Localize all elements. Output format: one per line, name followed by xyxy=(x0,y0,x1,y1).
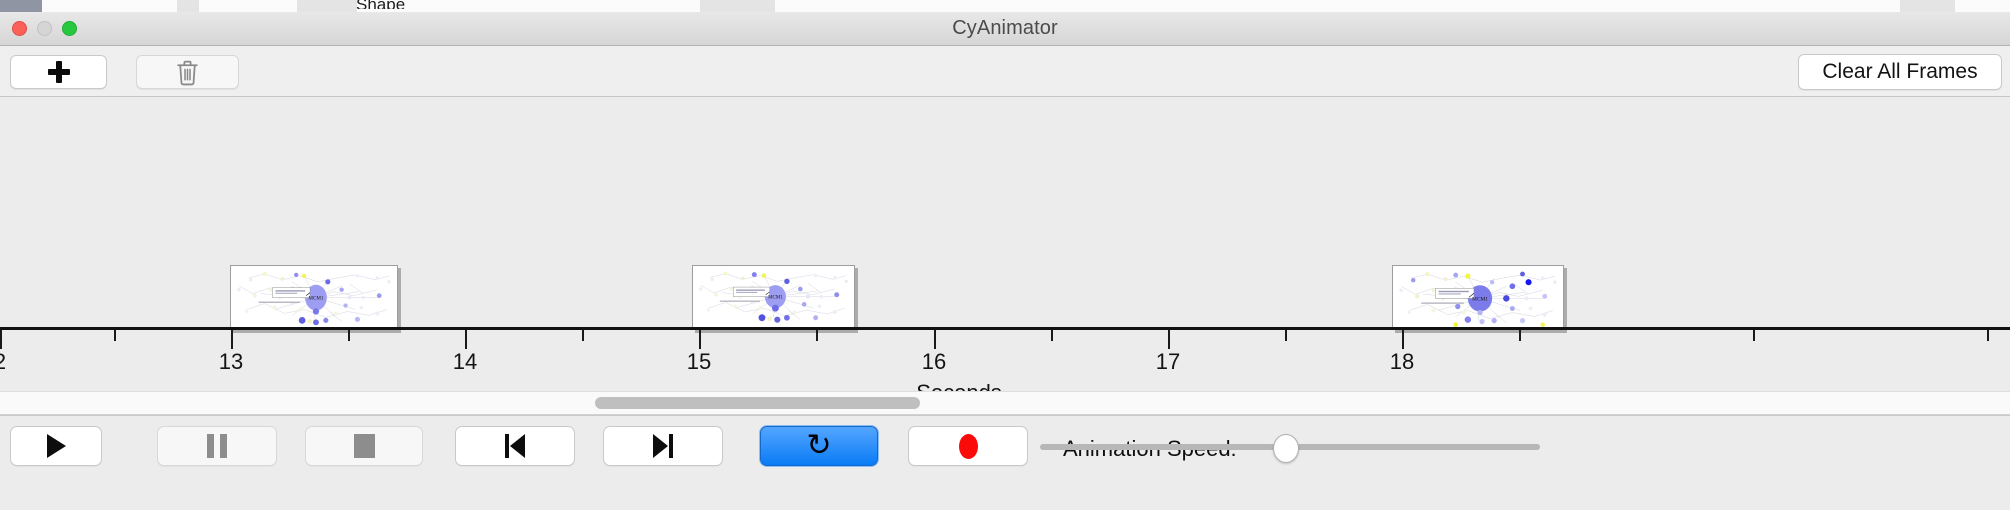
stop-icon xyxy=(354,434,375,458)
window-title: CyAnimator xyxy=(0,12,2010,45)
axis-tick-minor xyxy=(1987,330,1989,341)
axis-tick-minor xyxy=(1051,330,1053,341)
axis-tick-label: 13 xyxy=(219,349,243,375)
axis-tick-major xyxy=(1402,330,1404,349)
trash-icon xyxy=(175,59,200,86)
timeline-frame[interactable]: MCM1 xyxy=(230,265,398,330)
frame-node-label: MCM1 xyxy=(768,296,783,301)
axis-tick-label: 18 xyxy=(1390,349,1414,375)
add-frame-button[interactable] xyxy=(10,55,107,89)
timeline-panel[interactable]: MCM1 xyxy=(0,97,2010,415)
axis-tick-minor xyxy=(582,330,584,341)
playback-controls: ↻ Animation Speed: xyxy=(0,415,2010,478)
skip-previous-icon xyxy=(502,433,528,459)
frame-node-label: MCM1 xyxy=(308,296,324,302)
axis-tick-label: 2 xyxy=(0,349,6,375)
window-titlebar: CyAnimator xyxy=(0,12,2010,46)
axis-tick-major xyxy=(934,330,936,349)
play-button[interactable] xyxy=(10,426,102,466)
pause-button[interactable] xyxy=(157,426,277,466)
play-icon xyxy=(47,434,66,458)
axis-tick-minor xyxy=(816,330,818,341)
scrollbar-thumb[interactable] xyxy=(595,397,920,409)
axis-tick-major xyxy=(1168,330,1170,349)
background-fragment-label: Shape xyxy=(356,0,405,9)
axis-tick-label: 15 xyxy=(687,349,711,375)
timeline-frame[interactable]: MCM1 xyxy=(692,265,855,330)
axis-tick-minor xyxy=(1519,330,1521,341)
timeline-frame[interactable]: MCM1 xyxy=(1392,265,1564,330)
record-icon xyxy=(959,434,978,459)
axis-tick-minor xyxy=(1285,330,1287,341)
loop-icon: ↻ xyxy=(806,432,831,460)
plus-icon xyxy=(48,61,70,83)
clear-all-frames-button[interactable]: Clear All Frames xyxy=(1798,54,2002,90)
stop-button[interactable] xyxy=(305,426,423,466)
axis-tick-major xyxy=(465,330,467,349)
network-thumbnail: MCM1 xyxy=(693,266,854,328)
axis-tick-minor xyxy=(114,330,116,341)
animation-speed-thumb[interactable] xyxy=(1273,434,1299,463)
cyanimator-window: CyAnimator Clear All Frames xyxy=(0,12,2010,510)
axis-tick-major xyxy=(231,330,233,349)
loop-button[interactable]: ↻ xyxy=(760,426,878,466)
axis-tick-label: 14 xyxy=(453,349,477,375)
axis-tick-minor xyxy=(348,330,350,341)
axis-tick-major xyxy=(699,330,701,349)
axis-tick-major xyxy=(0,330,2,349)
next-frame-button[interactable] xyxy=(603,426,723,466)
timeline-axis xyxy=(0,327,2010,330)
axis-tick-minor xyxy=(1753,330,1755,341)
frame-toolbar: Clear All Frames xyxy=(0,46,2010,97)
axis-tick-label: 17 xyxy=(1156,349,1180,375)
delete-frame-button[interactable] xyxy=(136,55,239,89)
record-button[interactable] xyxy=(908,426,1028,466)
previous-frame-button[interactable] xyxy=(455,426,575,466)
pause-icon xyxy=(207,434,227,458)
axis-tick-label: 16 xyxy=(922,349,946,375)
network-thumbnail: MCM1 xyxy=(231,266,397,330)
timeline-scrollbar[interactable] xyxy=(0,391,2010,415)
network-thumbnail: MCM1 xyxy=(1393,266,1563,330)
frame-node-label: MCM1 xyxy=(1472,296,1488,302)
skip-next-icon xyxy=(650,433,676,459)
